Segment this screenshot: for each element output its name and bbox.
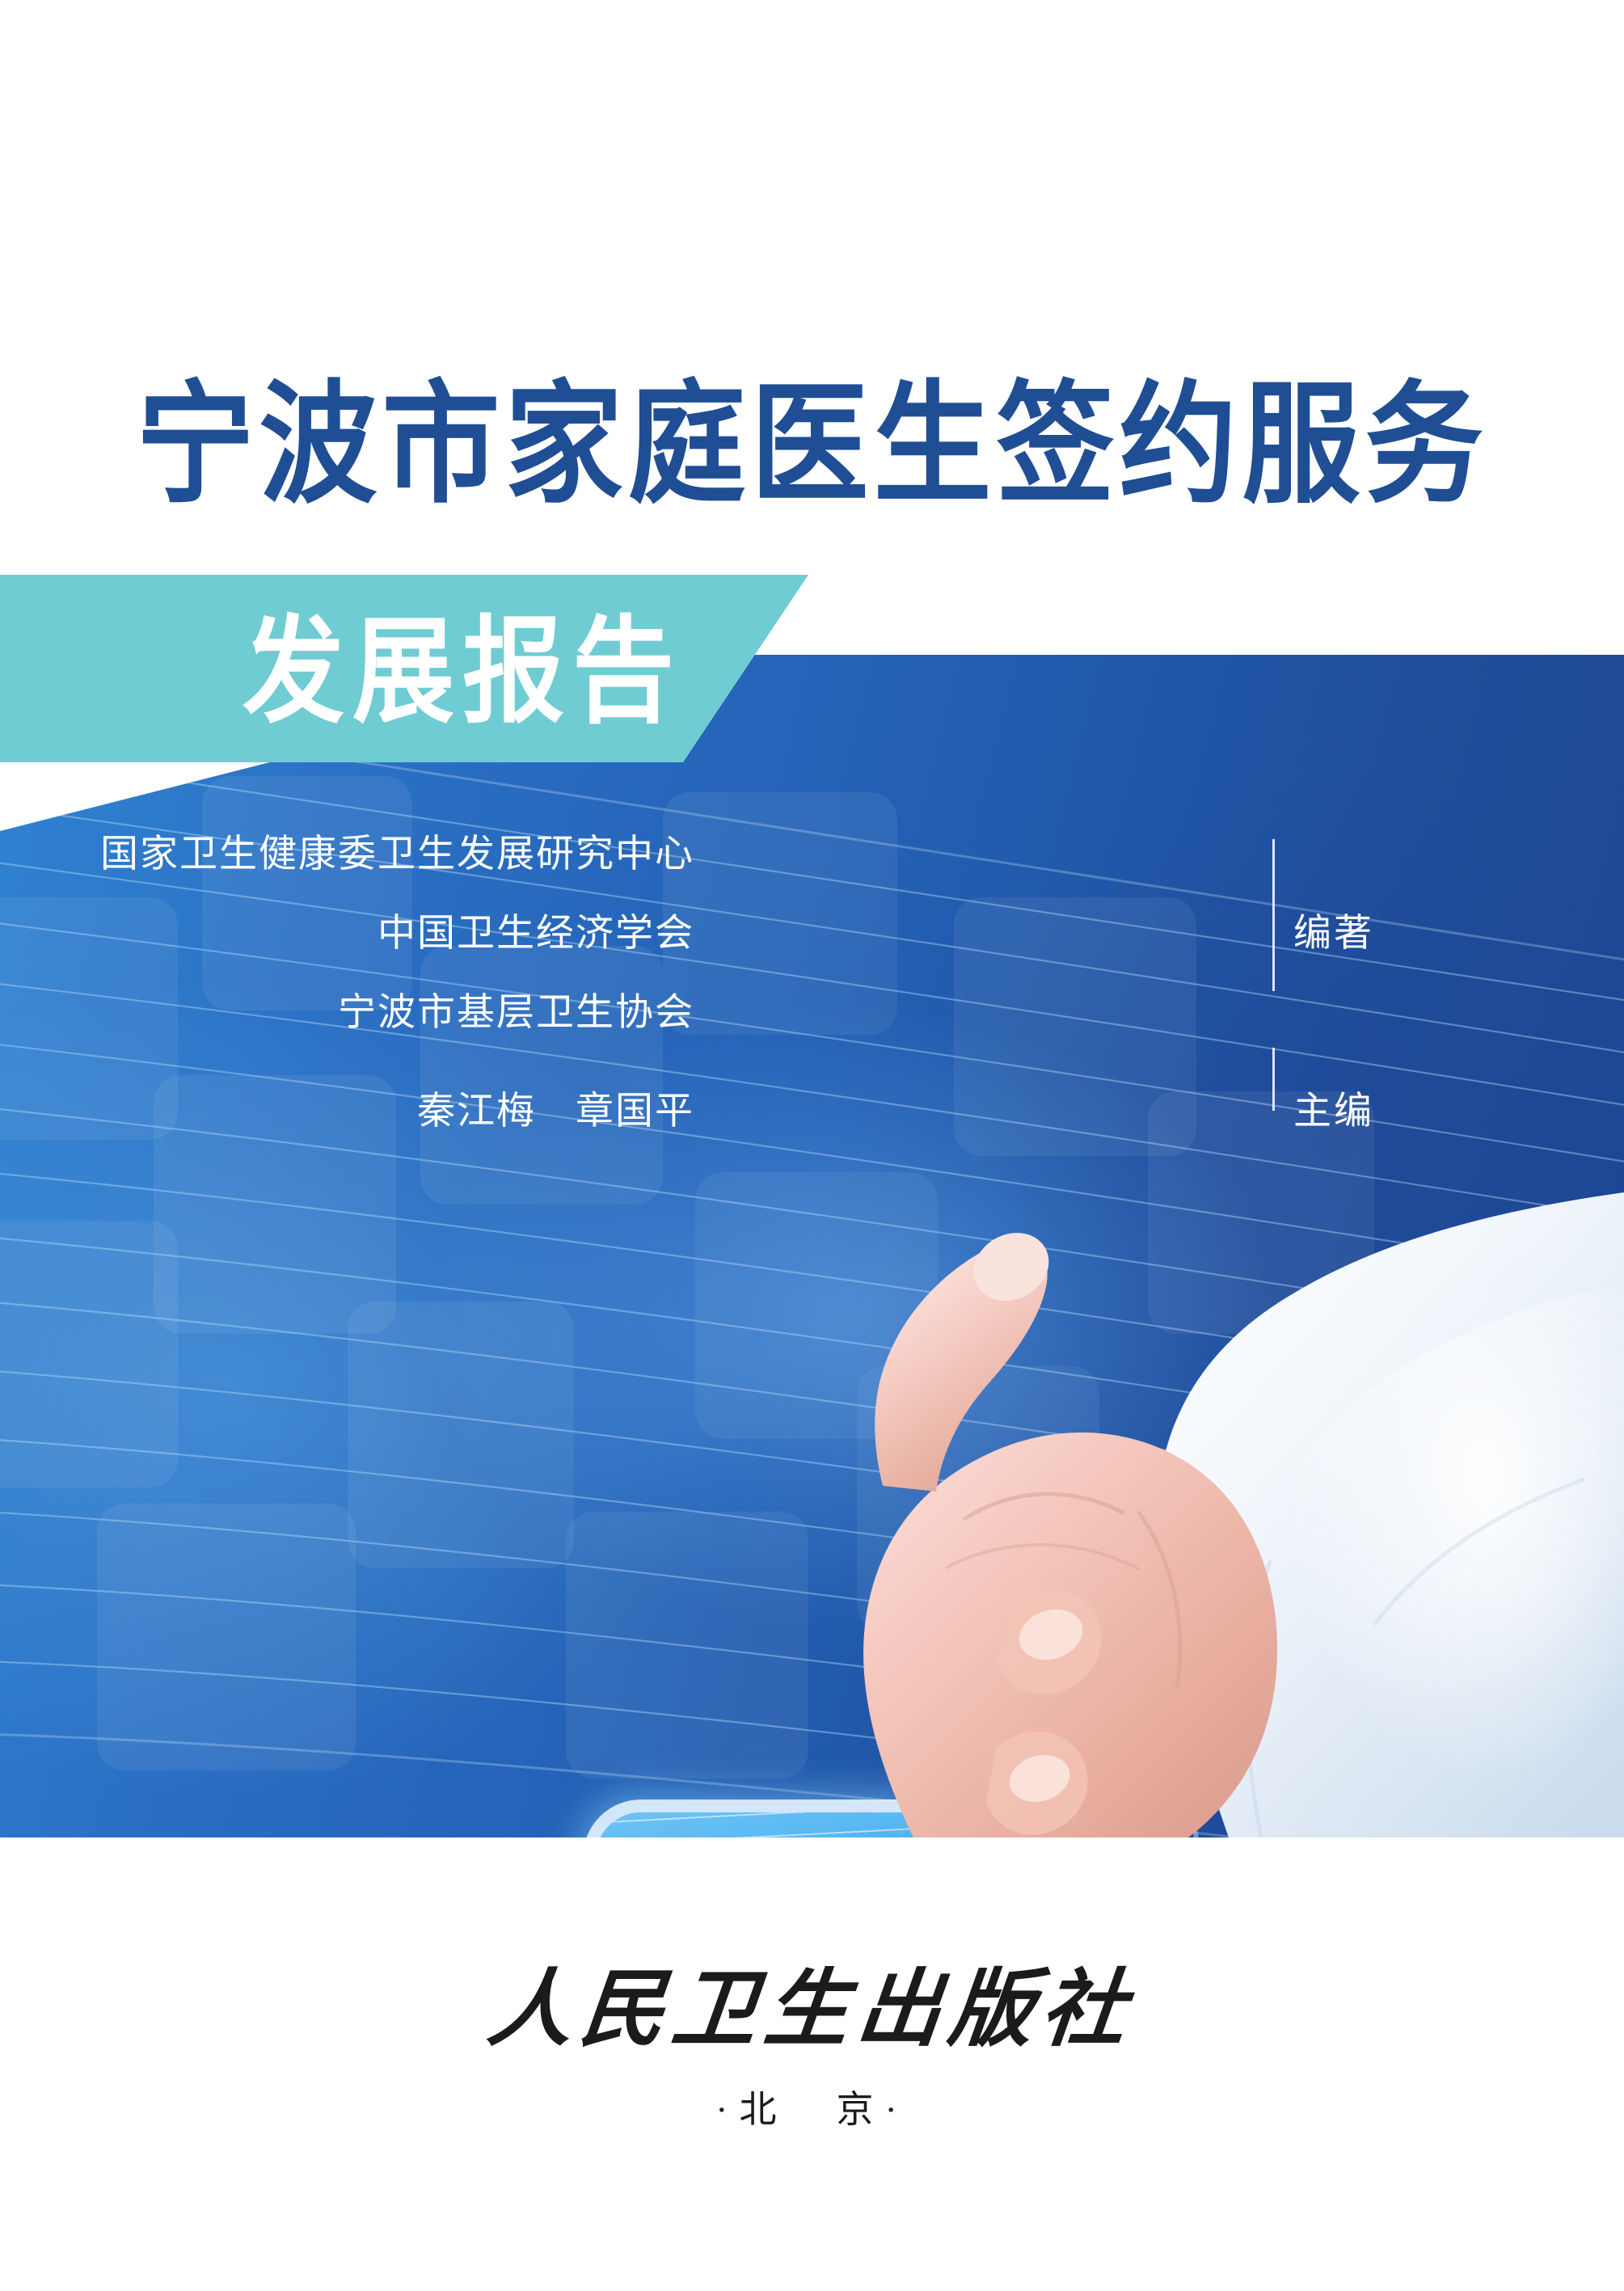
background-glow-center (428, 1010, 1277, 1625)
credit-organization: 国家卫生健康委卫生发展研究中心 (100, 834, 694, 872)
subtitle-text: 发展报告 (243, 604, 682, 740)
page-title: 宁波市家庭医生签约服务 (137, 373, 1488, 517)
publisher-city: ·北 京· (0, 2080, 1624, 2133)
hand-touching-screen-illustration (0, 655, 1624, 1837)
motif-square (420, 946, 663, 1205)
credits-block: 国家卫生健康委卫生发展研究中心 中国卫生经济学会 宁波市基层卫生协会 编著 秦江… (0, 655, 1624, 1837)
motif-square (695, 1172, 938, 1439)
title-block: 宁波市家庭医生签约服务 (0, 373, 1624, 501)
motif-square (0, 1221, 178, 1487)
credit-organization: 宁波市基层卫生协会 (338, 993, 694, 1031)
credit-editors: 秦江梅 章国平 (417, 1091, 694, 1129)
medical-touch-button[interactable] (596, 1812, 1002, 1837)
motif-square (566, 1512, 808, 1778)
background-glow-right (970, 752, 1624, 1479)
motif-square (1213, 1447, 1455, 1714)
motif-square (0, 897, 178, 1140)
credit-editors-role: 主编 (1293, 1091, 1374, 1129)
scanline-overlay (596, 1812, 1002, 1837)
motif-square (954, 897, 1196, 1156)
credit-organizations-role: 编著 (1293, 913, 1374, 951)
motif-square (857, 1366, 1099, 1633)
motif-square (97, 1504, 356, 1770)
motif-square (154, 1075, 396, 1334)
motif-square (1148, 1091, 1374, 1334)
subtitle-banner: 发展报告 (0, 575, 808, 762)
credit-divider (1272, 839, 1275, 991)
artwork-panel: 国家卫生健康委卫生发展研究中心 中国卫生经济学会 宁波市基层卫生协会 编著 秦江… (0, 655, 1624, 1837)
credit-organization: 中国卫生经济学会 (378, 913, 694, 951)
credit-divider (1272, 1048, 1275, 1111)
light-streaks (0, 655, 1624, 1837)
motif-square (202, 776, 412, 1010)
motif-square (348, 1302, 574, 1568)
motif-square (663, 792, 897, 1035)
book-cover: 宁波市家庭医生签约服务 发展报告 (0, 0, 1624, 2291)
publisher-logo-text: 人民卫生出版社 (0, 1940, 1624, 2062)
publisher-block: 人民卫生出版社 ·北 京· (0, 1940, 1624, 2133)
